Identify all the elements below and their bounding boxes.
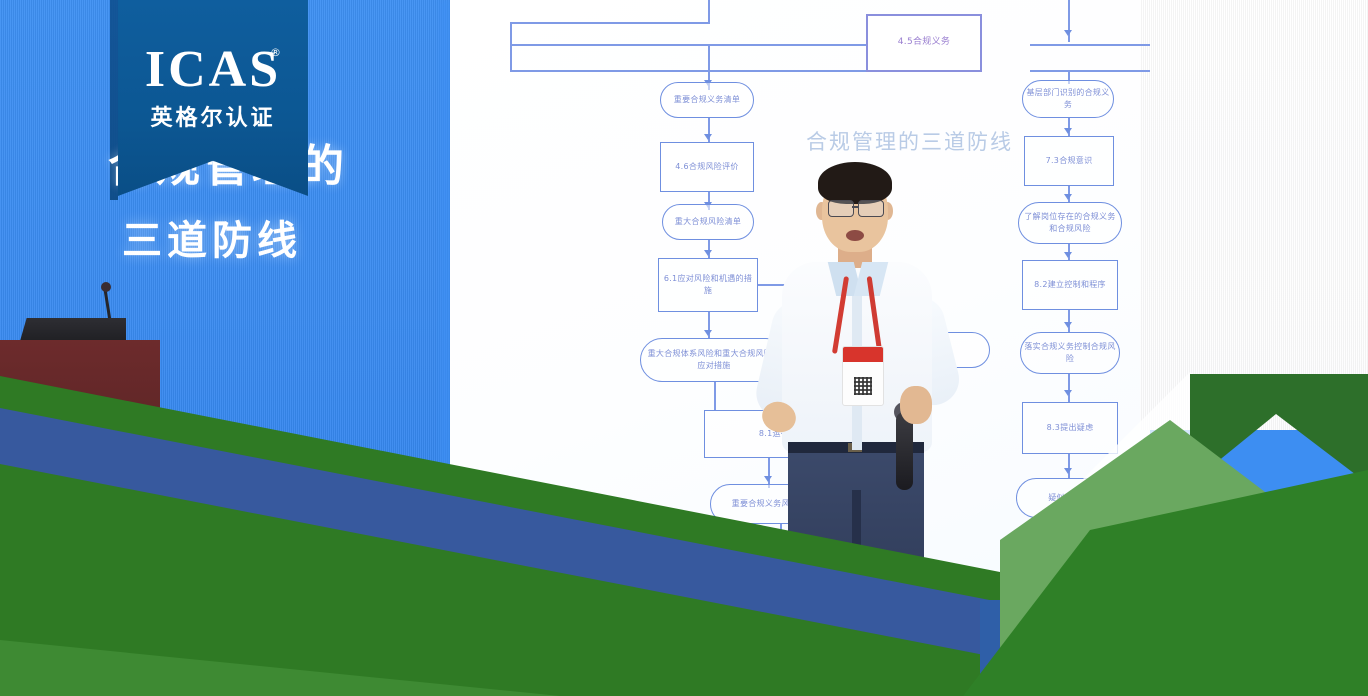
flow-line — [510, 22, 512, 70]
flow-node-right-5: 8.3提出疑虑 — [1022, 402, 1118, 454]
flow-line — [1068, 374, 1070, 402]
speaker-mouth — [846, 230, 864, 241]
flow-line — [510, 22, 710, 24]
flow-arrow — [1064, 534, 1072, 540]
conference-badge — [842, 346, 884, 406]
eyeglasses-lens-right — [858, 200, 884, 217]
flow-arrow — [1064, 322, 1072, 328]
speaker-presenter — [760, 150, 1010, 620]
flow-node-left-0: 重要合规义务清单 — [660, 82, 754, 118]
flow-line — [1030, 44, 1150, 46]
flow-node-right-2: 了解岗位存在的合规义务和合规风险 — [1018, 202, 1122, 244]
flow-arrow — [1064, 390, 1072, 396]
flow-arrow — [1064, 252, 1072, 258]
flow-node-right-1: 7.3合规意识 — [1024, 136, 1114, 186]
wall-headline-line2: 三道防线 — [122, 208, 302, 266]
eyeglasses-lens-left — [828, 200, 854, 217]
audience-head — [630, 538, 696, 598]
flow-line — [1068, 454, 1070, 478]
flow-line — [708, 0, 710, 22]
screen-right-area — [1140, 0, 1368, 430]
podium — [0, 340, 160, 460]
flow-line — [1068, 518, 1070, 546]
flow-node-right-6: 疑似不合规 — [1016, 478, 1122, 518]
flow-line — [1068, 310, 1070, 332]
icas-logo-chinese: 英格尔认证 — [118, 100, 308, 132]
flow-arrow — [704, 250, 712, 256]
flow-arrow — [1064, 194, 1072, 200]
flow-line — [1030, 70, 1150, 72]
registered-trademark-icon: ® — [270, 46, 281, 59]
flow-arrow — [1064, 30, 1072, 36]
flow-line — [510, 44, 866, 46]
flow-arrow — [1064, 128, 1072, 134]
flow-node-right-3: 8.2建立控制和程序 — [1022, 260, 1118, 310]
badge-header — [843, 347, 883, 362]
flow-node-right-0: 基层部门识别的合规义务 — [1022, 80, 1114, 118]
presentation-photo-stage: 合规管理的三道防线 4.5合规义务 重要合规义务清单 4.6合规风险评价 重大合… — [0, 0, 1368, 696]
speaker-hand-right — [900, 386, 932, 424]
flow-node-left-2: 重大合规风险清单 — [662, 204, 754, 240]
audience-head — [1005, 540, 1069, 598]
flow-line — [714, 382, 716, 410]
flow-node-right-4: 落实合规义务控制合规风险 — [1020, 332, 1120, 374]
eyeglasses-bridge — [852, 206, 858, 208]
flow-node-left-3: 6.1应对风险和机遇的措施 — [658, 258, 758, 312]
flow-line — [510, 70, 866, 72]
overlay-block-grey — [1100, 616, 1250, 696]
flow-node-center: 4.5合规义务 — [866, 14, 982, 72]
flow-arrow — [1064, 468, 1072, 474]
flow-arrow — [704, 134, 712, 140]
qr-code-icon — [854, 377, 872, 395]
flow-node-left-1: 4.6合规风险评价 — [660, 142, 754, 192]
speaker-leg-seam — [852, 490, 861, 624]
podium-mic-head-icon — [101, 282, 111, 292]
speaker-hair — [818, 162, 892, 204]
flow-arrow — [704, 330, 712, 336]
